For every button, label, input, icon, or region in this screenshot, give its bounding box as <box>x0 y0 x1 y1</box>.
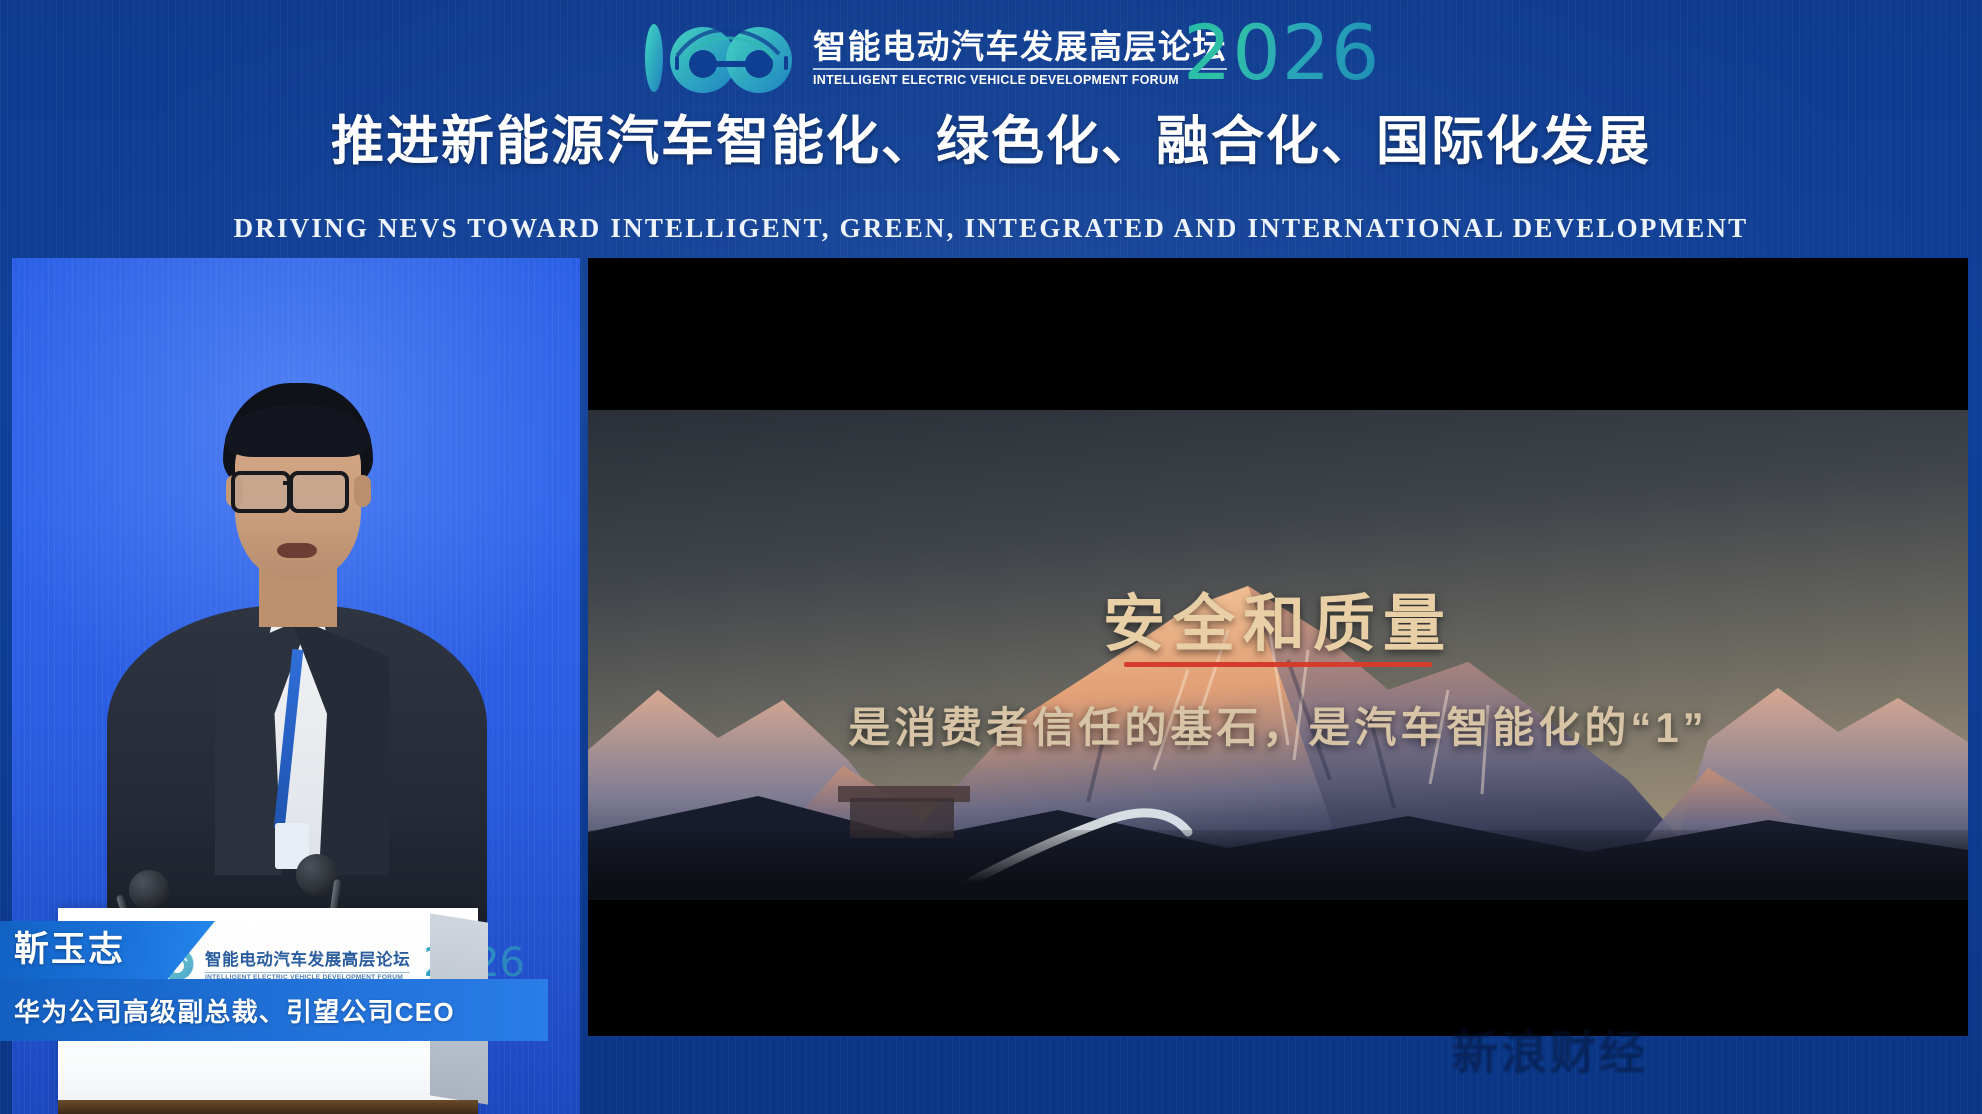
forum-logo-divider <box>813 68 1227 70</box>
slide-heading-underline <box>1124 662 1432 667</box>
broadcast-watermark: 新浪财经 <box>1452 1018 1922 1088</box>
microphone-icon <box>129 870 169 910</box>
forum-year: 2026 <box>1183 10 1380 96</box>
speaker-ear-right <box>354 475 371 507</box>
slide-heading: 安全和质量 <box>588 590 1968 660</box>
podium-top-edge <box>58 1100 478 1114</box>
forum-100-logo-icon <box>641 20 801 96</box>
podium-logo-text: 智能电动汽车发展高层论坛 INTELLIGENT ELECTRIC VEHICL… <box>205 946 410 981</box>
forum-name-cn: 智能电动汽车发展高层论坛 <box>813 29 1227 65</box>
presentation-screen: 安全和质量 是消费者信任的基石，是汽车智能化的“1” <box>588 258 1968 1036</box>
slide-subheading: 是消费者信任的基石，是汽车智能化的“1” <box>588 702 1968 754</box>
speaker-glasses-right <box>289 471 349 513</box>
speaker-title-bar: 华为公司高级副总裁、引望公司CEO <box>0 979 548 1041</box>
speaker-glasses-left <box>231 471 291 513</box>
page-title-cn: 推进新能源汽车智能化、绿色化、融合化、国际化发展 <box>0 110 1982 174</box>
speaker-mouth <box>277 543 317 558</box>
speaker-person-icon <box>107 383 487 943</box>
speaker-glasses-bridge <box>283 481 291 485</box>
speaker-title: 华为公司高级副总裁、引望公司CEO <box>14 992 455 1029</box>
speaker-name: 靳玉志 <box>14 931 125 969</box>
event-header: 智能电动汽车发展高层论坛 INTELLIGENT ELECTRIC VEHICL… <box>0 0 1982 258</box>
podium-logo-divider <box>205 972 410 973</box>
slide-foreground-shadow <box>588 830 1968 900</box>
forum-logo-lockup: 智能电动汽车发展高层论坛 INTELLIGENT ELECTRIC VEHICL… <box>641 17 1227 99</box>
presentation-slide: 安全和质量 是消费者信任的基石，是汽车智能化的“1” <box>588 410 1968 900</box>
podium-forum-name-cn: 智能电动汽车发展高层论坛 <box>205 946 410 970</box>
page-title-en: DRIVING NEVS TOWARD INTELLIGENT, GREEN, … <box>0 212 1982 244</box>
forum-logo-text: 智能电动汽车发展高层论坛 INTELLIGENT ELECTRIC VEHICL… <box>813 20 1227 96</box>
forum-name-en: INTELLIGENT ELECTRIC VEHICLE DEVELOPMENT… <box>813 73 1223 87</box>
